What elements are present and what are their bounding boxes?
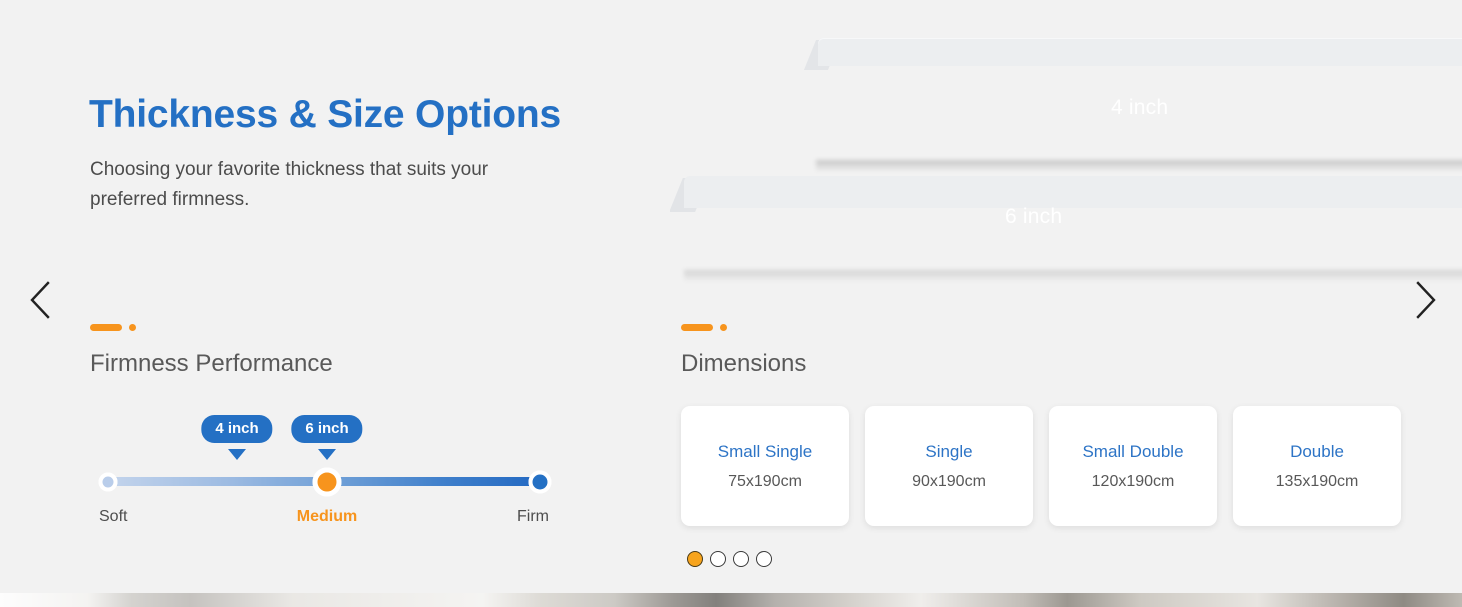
pagination-dot-1[interactable] — [687, 551, 703, 567]
firmness-slider[interactable]: 4 inch 6 inch Soft Medium Firm — [99, 415, 549, 530]
dimension-card-name: Small Double — [1082, 442, 1183, 462]
dimension-card-size: 135x190cm — [1276, 473, 1359, 491]
image-label-4-inch: 4 inch — [1111, 96, 1168, 120]
bottom-mattress-shadow — [684, 270, 1462, 282]
carousel-next-button[interactable] — [1408, 277, 1442, 323]
dimension-card-name: Single — [925, 442, 972, 462]
dimensions-pagination — [687, 551, 772, 567]
dimension-card-size: 120x190cm — [1092, 473, 1175, 491]
dimension-card-name: Small Single — [718, 442, 813, 462]
carousel-prev-button[interactable] — [24, 277, 58, 323]
accent-bar-icon — [681, 324, 713, 331]
top-mattress-shadow — [816, 160, 1462, 172]
accent-dot-icon — [720, 324, 727, 331]
next-section-image-strip — [0, 593, 1462, 607]
slider-label-soft: Soft — [99, 508, 127, 526]
firmness-accent-mark — [90, 324, 136, 331]
slider-badge-6-inch[interactable]: 6 inch — [291, 415, 362, 443]
dimension-card[interactable]: Single 90x190cm — [865, 406, 1033, 526]
dimension-card[interactable]: Double 135x190cm — [1233, 406, 1401, 526]
pagination-dot-4[interactable] — [756, 551, 772, 567]
slider-label-medium: Medium — [297, 508, 357, 526]
accent-dot-icon — [129, 324, 136, 331]
slider-handle-medium[interactable] — [313, 467, 342, 496]
slider-label-firm: Firm — [517, 508, 549, 526]
dimension-card[interactable]: Small Double 120x190cm — [1049, 406, 1217, 526]
dimensions-section-title: Dimensions — [681, 350, 806, 378]
page-title: Thickness & Size Options — [89, 94, 561, 137]
dimensions-accent-mark — [681, 324, 727, 331]
pagination-dot-2[interactable] — [710, 551, 726, 567]
dimension-card-size: 90x190cm — [912, 473, 986, 491]
firmness-section-title: Firmness Performance — [90, 350, 333, 378]
page-subtitle: Choosing your favorite thickness that su… — [90, 155, 550, 215]
bottom-mattress-front-face — [682, 204, 1462, 274]
slider-badge-6-inch-caret — [318, 449, 336, 460]
dimensions-card-list: Small Single 75x190cm Single 90x190cm Sm… — [681, 406, 1401, 526]
chevron-right-icon — [1408, 277, 1442, 323]
accent-bar-icon — [90, 324, 122, 331]
top-mattress-top-surface — [818, 38, 1462, 66]
slider-badge-4-inch[interactable]: 4 inch — [201, 415, 272, 443]
dimension-card[interactable]: Small Single 75x190cm — [681, 406, 849, 526]
slider-handle-firm[interactable] — [529, 470, 552, 493]
image-label-6-inch: 6 inch — [1005, 205, 1062, 229]
mattress-comparison-image: 4 inch 6 inch — [670, 0, 1462, 290]
slider-badge-4-inch-caret — [228, 449, 246, 460]
dimension-card-name: Double — [1290, 442, 1344, 462]
pagination-dot-3[interactable] — [733, 551, 749, 567]
thickness-size-options-section: 4 inch 6 inch Thickness & Size Options C… — [0, 0, 1462, 607]
chevron-left-icon — [24, 277, 58, 323]
dimension-card-size: 75x190cm — [728, 473, 802, 491]
slider-handle-soft[interactable] — [99, 472, 118, 491]
